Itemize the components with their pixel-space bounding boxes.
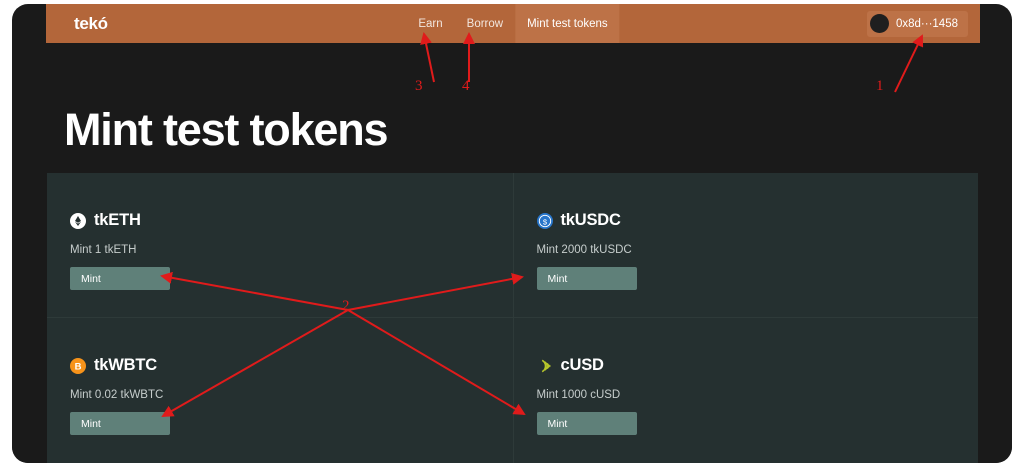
wallet-address-label: 0x8d···1458: [896, 18, 958, 30]
nav-item-earn-label: Earn: [418, 18, 442, 30]
main-nav: Earn Borrow Mint test tokens: [406, 4, 619, 43]
nav-item-borrow-label: Borrow: [467, 18, 503, 30]
token-name-label: tkETH: [94, 211, 141, 230]
token-card-tketh: tkETH Mint 1 tkETH Mint: [47, 173, 513, 317]
svg-text:B: B: [75, 361, 82, 372]
token-card-header: $ tkUSDC: [537, 211, 979, 230]
nav-item-borrow[interactable]: Borrow: [455, 4, 515, 43]
bitcoin-icon: B: [70, 358, 86, 374]
teko-logo[interactable]: tekó: [74, 14, 108, 34]
app-window: tekó Earn Borrow Mint test tokens 0x8d··…: [12, 4, 1012, 463]
token-name-label: cUSD: [561, 356, 604, 375]
mint-button-tkusdc[interactable]: Mint: [537, 267, 637, 290]
wallet-button[interactable]: 0x8d···1458: [867, 11, 968, 37]
token-name-label: tkWBTC: [94, 356, 157, 375]
page-body: Mint test tokens tkETH Mint 1 tkETH Mint: [12, 43, 1012, 463]
token-card-tkusdc: $ tkUSDC Mint 2000 tkUSDC Mint: [513, 173, 979, 317]
token-card-grid: tkETH Mint 1 tkETH Mint $ tkUSDC Mint 20…: [47, 173, 978, 463]
nav-item-earn[interactable]: Earn: [406, 4, 454, 43]
token-card-header: tkETH: [70, 211, 513, 230]
token-card-subtitle: Mint 1000 cUSD: [537, 389, 979, 401]
token-card-subtitle: Mint 2000 tkUSDC: [537, 244, 979, 256]
token-card-header: cUSD: [537, 356, 979, 375]
token-card-subtitle: Mint 0.02 tkWBTC: [70, 389, 513, 401]
ethereum-icon: [70, 213, 86, 229]
token-card-subtitle: Mint 1 tkETH: [70, 244, 513, 256]
top-navigation-bar: tekó Earn Borrow Mint test tokens 0x8d··…: [46, 4, 980, 43]
celo-dollar-icon: [537, 358, 553, 374]
usdc-icon: $: [537, 213, 553, 229]
mint-button-tkwbtc[interactable]: Mint: [70, 412, 170, 435]
token-card-cusd: cUSD Mint 1000 cUSD Mint: [513, 317, 979, 463]
nav-item-mint-test-tokens[interactable]: Mint test tokens: [515, 4, 620, 43]
token-name-label: tkUSDC: [561, 211, 621, 230]
wallet-avatar-icon: [870, 14, 889, 33]
mint-button-tketh[interactable]: Mint: [70, 267, 170, 290]
token-card-header: B tkWBTC: [70, 356, 513, 375]
nav-item-mint-test-tokens-label: Mint test tokens: [527, 18, 608, 30]
token-card-tkwbtc: B tkWBTC Mint 0.02 tkWBTC Mint: [47, 317, 513, 463]
page-title: Mint test tokens: [64, 107, 387, 152]
mint-button-cusd[interactable]: Mint: [537, 412, 637, 435]
